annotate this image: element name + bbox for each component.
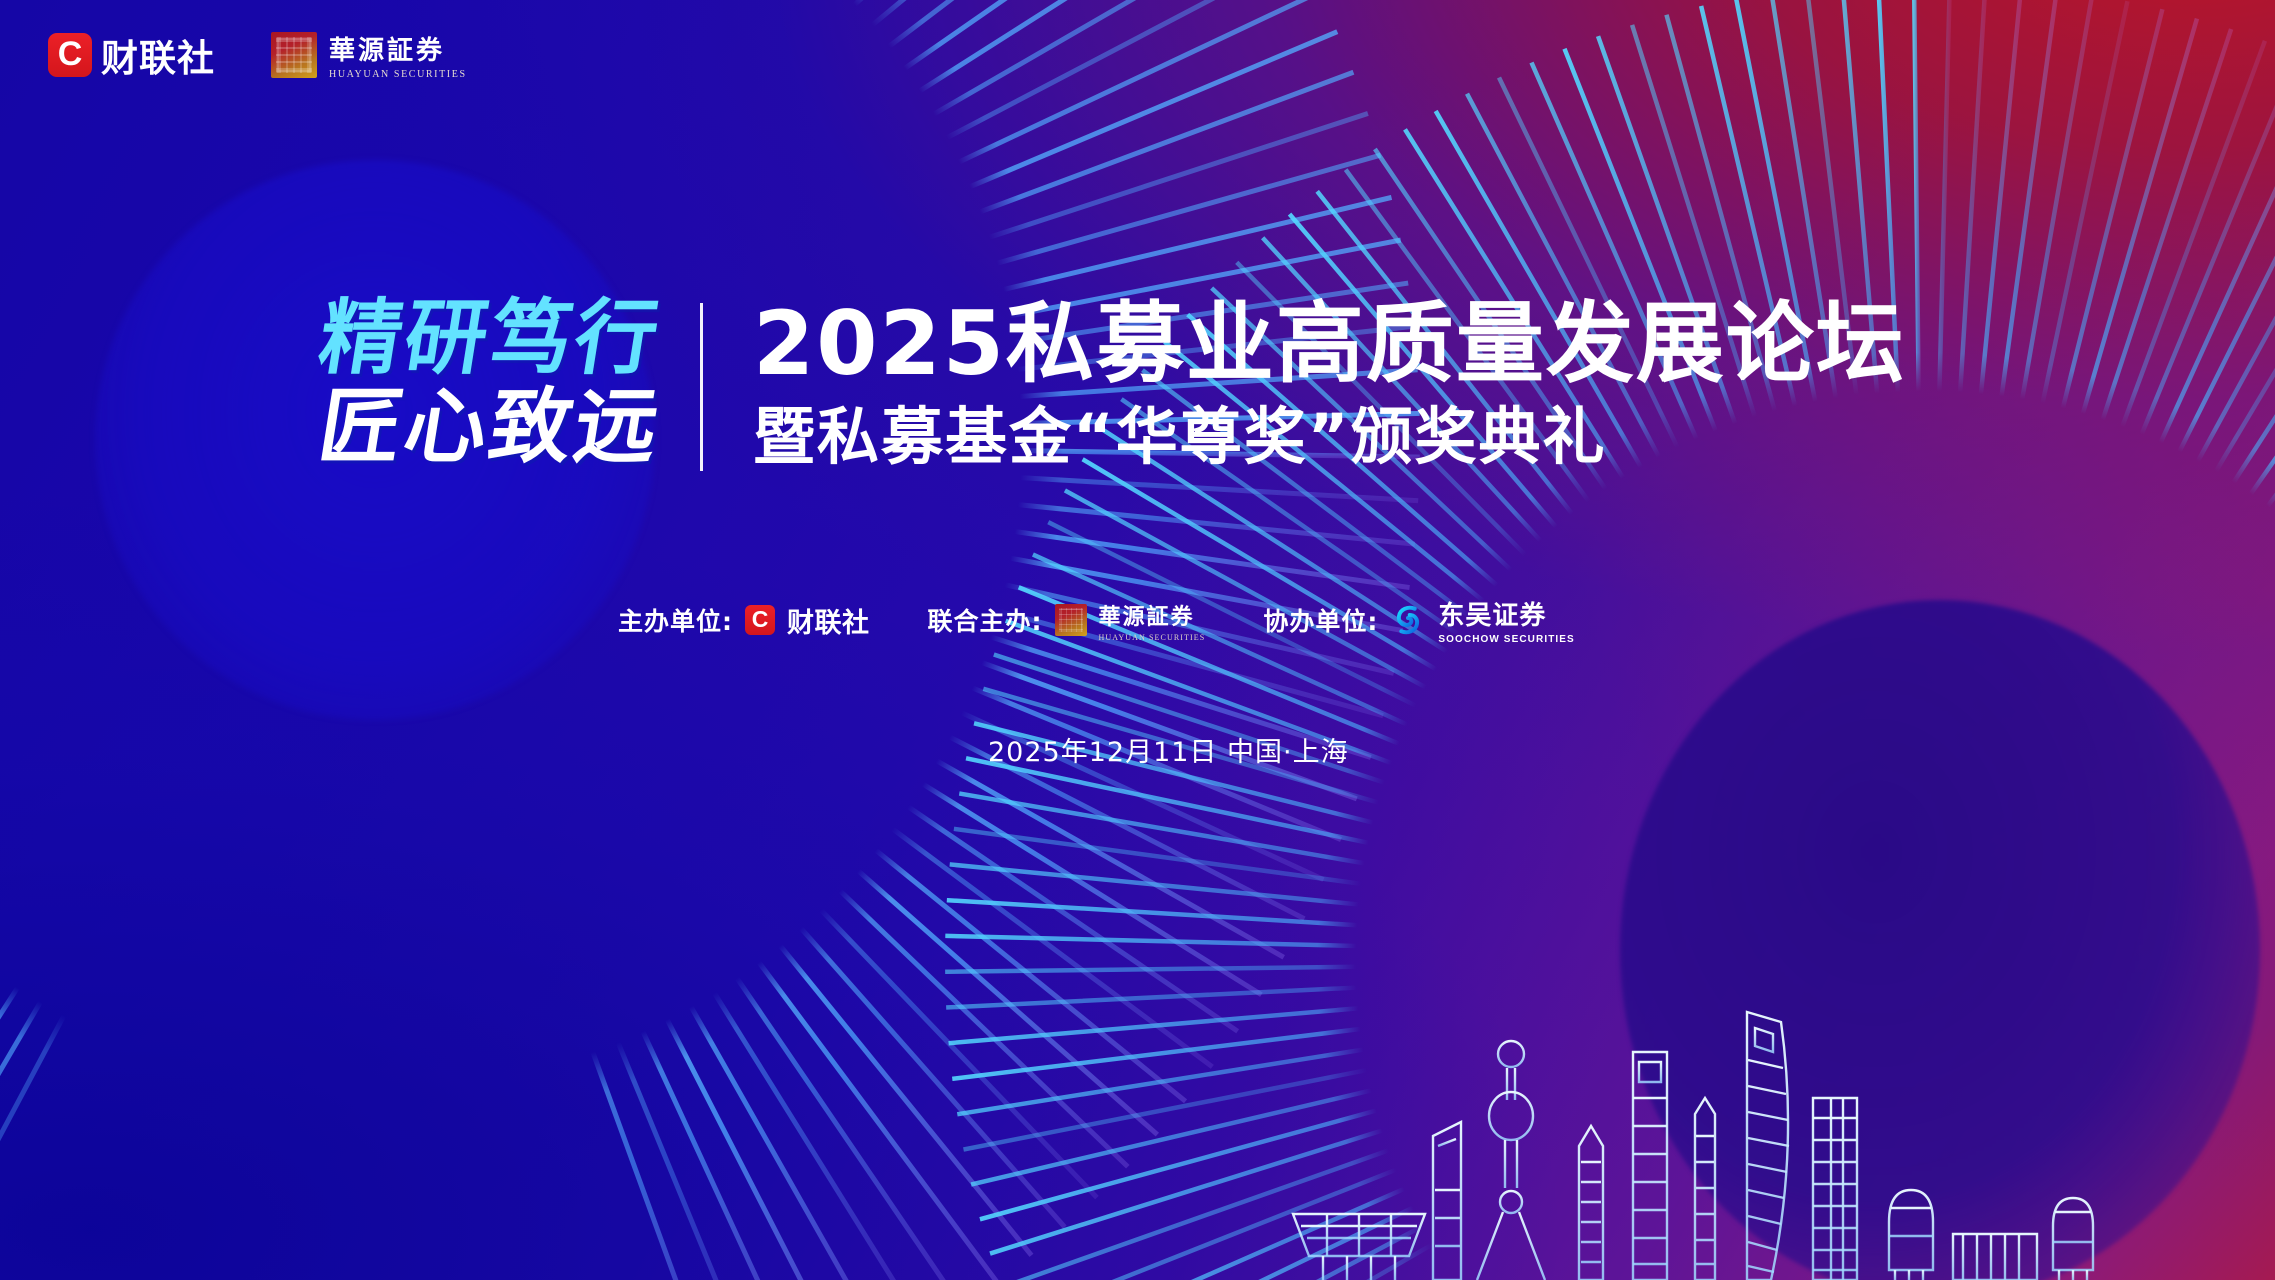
sponsor-cohost-name-en: HUAYUAN SECURITIES	[1099, 633, 1206, 642]
cls-logo-label: 财联社	[101, 28, 215, 82]
huayuan-logo-label-en: HUAYUAN SECURITIES	[329, 69, 467, 80]
event-dateline: 2025年12月11日 中国·上海	[988, 730, 1349, 769]
sponsor-host-label: 主办单位:	[618, 602, 733, 638]
cls-logo-icon: C	[745, 605, 775, 635]
page-subtitle: 暨私募基金“华尊奖”颁奖典礼	[753, 403, 1906, 471]
headline-block: 精研笃行 匠心致远 2025私募业高质量发展论坛 暨私募基金“华尊奖”颁奖典礼	[0, 296, 2275, 472]
soochow-swirl-icon	[1390, 602, 1426, 638]
page-title: 2025私募业高质量发展论坛	[753, 296, 1906, 391]
sponsor-row: 主办单位: C 财联社 联合主办: 華源証券 HUAYUAN SECURITIE…	[618, 595, 1575, 645]
title-block: 2025私募业高质量发展论坛 暨私募基金“华尊奖”颁奖典礼	[703, 296, 1906, 471]
title-divider	[700, 303, 703, 471]
poster-canvas: C 财联社 華源証券 HUAYUAN SECURITIES 精研笃行 匠心致远 …	[0, 0, 2275, 1280]
slogan-line-2: 匠心致远	[0, 385, 667, 472]
slogan-line-1: 精研笃行	[0, 296, 667, 383]
sponsor-coorg-name-en: SOOCHOW SECURITIES	[1438, 634, 1574, 645]
huayuan-seal-icon	[1055, 604, 1087, 636]
sponsor-coorg-name-cn: 东吴证券	[1438, 595, 1574, 632]
sponsor-host-name: 财联社	[787, 601, 870, 640]
sponsor-host: 主办单位: C 财联社	[618, 601, 870, 640]
sponsor-cohost: 联合主办: 華源証券 HUAYUAN SECURITIES	[928, 599, 1206, 642]
sponsor-cohost-name-cn: 華源証券	[1099, 599, 1206, 631]
header-logo-row: C 财联社 華源証券 HUAYUAN SECURITIES	[48, 28, 467, 82]
sponsor-cohost-label: 联合主办:	[928, 602, 1043, 638]
huayuan-seal-icon	[271, 32, 317, 78]
slogan-block: 精研笃行 匠心致远	[0, 296, 700, 472]
sponsor-coorg: 协办单位: 东吴证券 SOOCHOW SECURITIES	[1263, 595, 1574, 645]
cailianshe-logo[interactable]: C 财联社	[48, 28, 215, 82]
huayuan-logo-label-cn: 華源証券	[329, 30, 467, 67]
cls-logo-icon: C	[48, 33, 92, 77]
sponsor-coorg-label: 协办单位:	[1263, 602, 1378, 638]
shanghai-skyline-icon	[1275, 950, 2275, 1280]
huayuan-logo[interactable]: 華源証券 HUAYUAN SECURITIES	[271, 30, 467, 80]
